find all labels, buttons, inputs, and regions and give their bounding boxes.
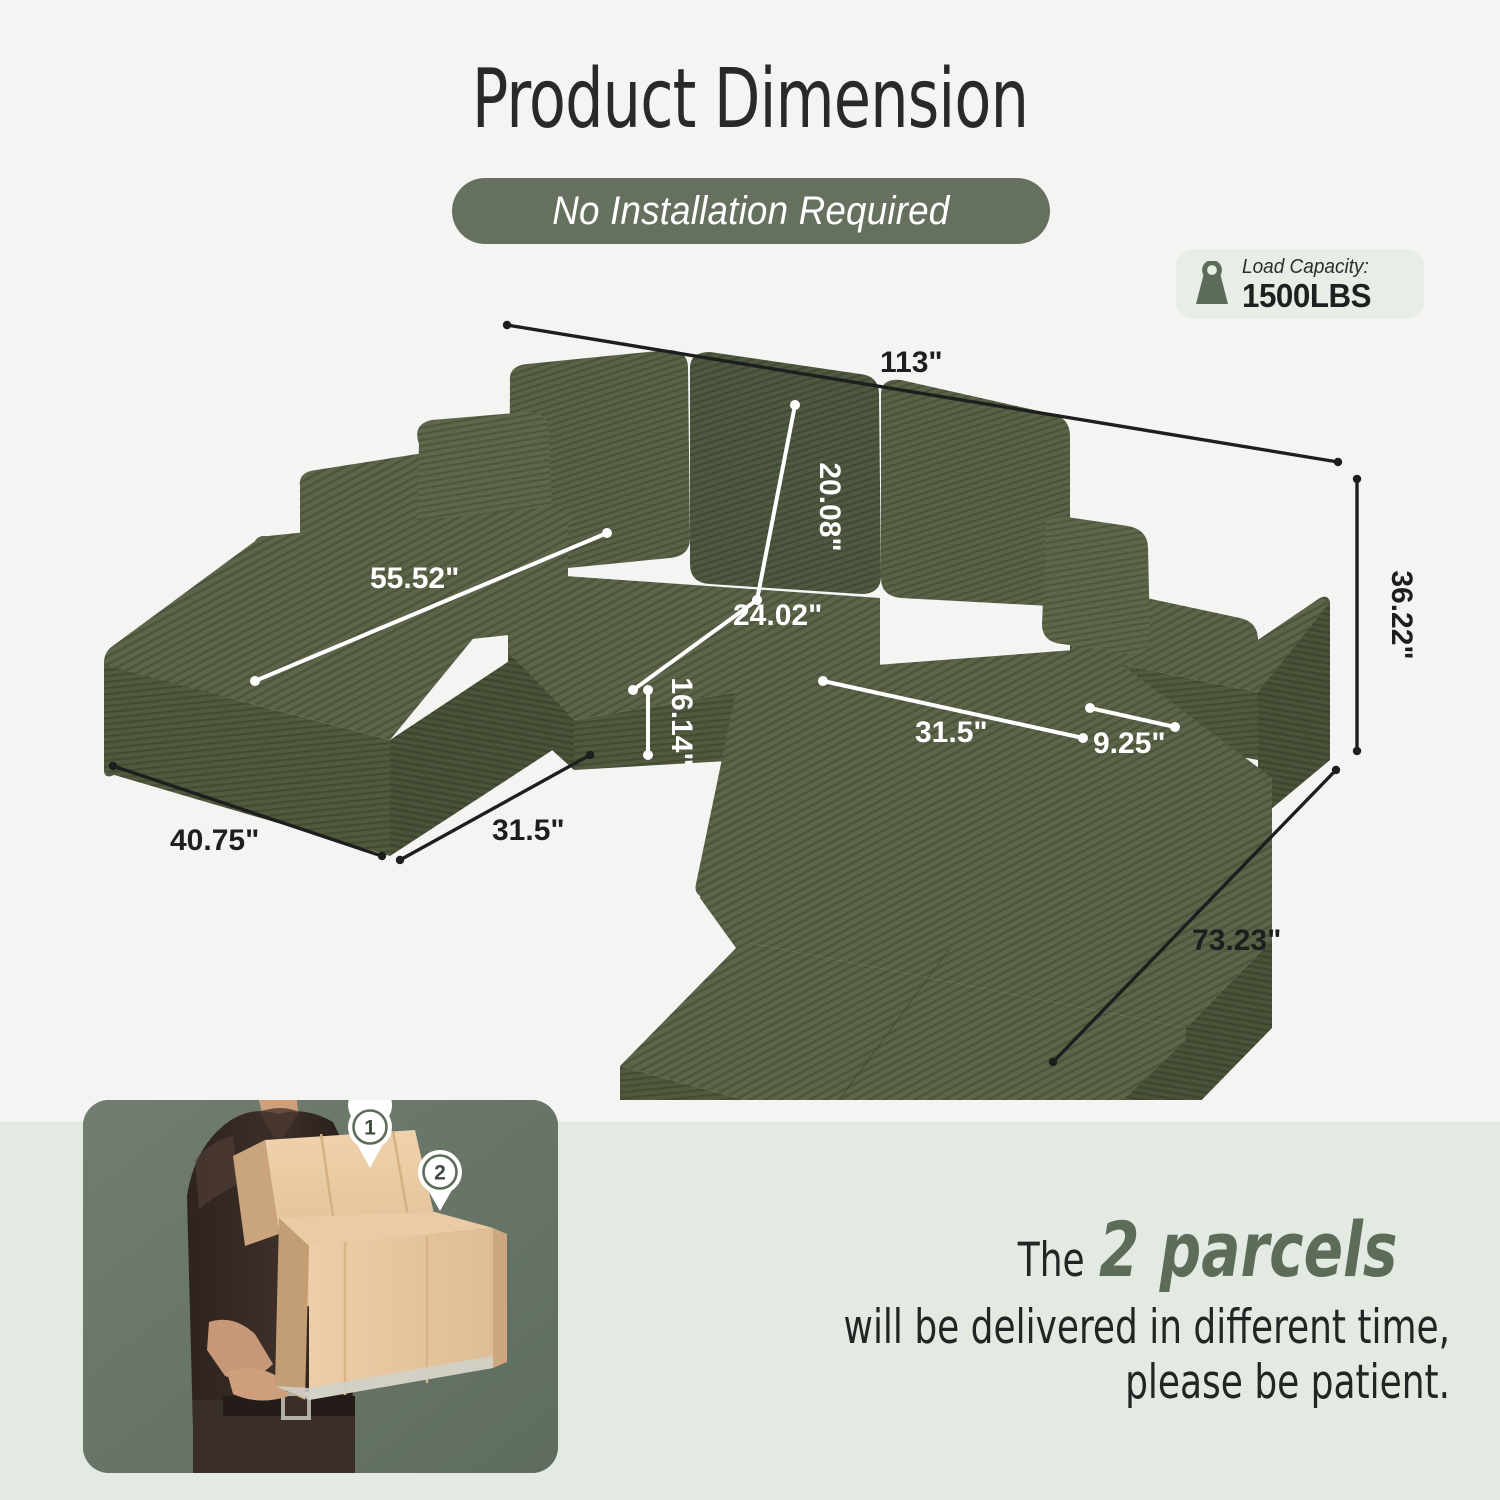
no-installation-badge: No Installation Required xyxy=(452,178,1050,244)
no-installation-badge-label: No Installation Required xyxy=(552,189,949,234)
page-title: Product Dimension xyxy=(135,52,1365,147)
dimension-seat-width-label: 31.5" xyxy=(915,716,988,749)
delivery-message: The2 parcels will be delivered in differ… xyxy=(620,1212,1450,1411)
right-throw-pillow xyxy=(1042,516,1150,654)
dimension-overall-width-label: 113" xyxy=(880,346,943,379)
delivery-message-line3: please be patient. xyxy=(745,1355,1451,1410)
dimension-chaise-length-label: 55.52" xyxy=(370,562,459,595)
sofa-dimension-diagram: 113" 36.22" 73.23" 40.75" 31.5" xyxy=(0,300,1500,1100)
sofa-body xyxy=(104,350,1330,1100)
load-capacity-label: Load Capacity: xyxy=(1242,257,1371,277)
delivery-message-the: The xyxy=(1018,1237,1085,1284)
dimension-overall-height: 36.22" xyxy=(1357,479,1418,751)
dimension-module-depth-label: 40.75" xyxy=(170,824,259,857)
dimension-overall-height-label: 36.22" xyxy=(1385,570,1418,659)
delivery-message-line2: will be delivered in different time, xyxy=(745,1300,1451,1355)
parcel-pin-2-label: 2 xyxy=(434,1162,446,1185)
dimension-overall-depth-label: 73.23" xyxy=(1192,924,1281,957)
backrest-cushions xyxy=(509,350,1070,606)
dimension-module-width-label: 31.5" xyxy=(492,814,565,847)
product-dimension-infographic: Product Dimension No Installation Requir… xyxy=(0,0,1500,1500)
dimension-armrest-width-label: 9.25" xyxy=(1093,727,1166,760)
dimension-seat-height-label: 16.14" xyxy=(665,677,698,766)
dimension-backrest-height-label: 20.08" xyxy=(813,462,846,551)
delivery-message-count: 2 parcels xyxy=(1099,1212,1398,1288)
delivery-message-line1: The2 parcels xyxy=(620,1212,1450,1288)
delivery-photo: 1 2 xyxy=(83,1100,558,1473)
dimension-seat-depth-label: 24.02" xyxy=(733,599,822,632)
parcel-pin-1-label: 1 xyxy=(364,1117,376,1140)
